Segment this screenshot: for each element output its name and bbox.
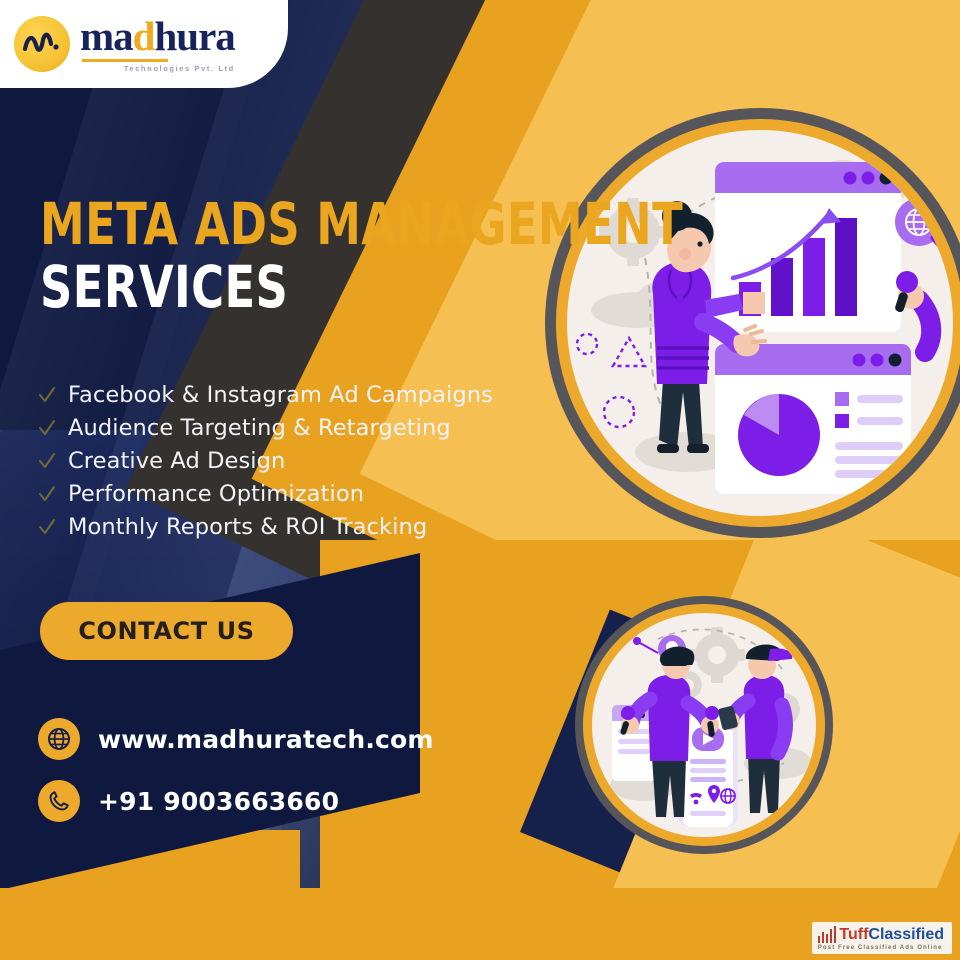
list-item-label: Facebook & Instagram Ad Campaigns (68, 382, 493, 408)
brand-logo-text: madhura Technologies Pvt. Ltd (80, 16, 235, 73)
page-title-line2: SERVICES (40, 259, 683, 316)
poster-canvas: madhura Technologies Pvt. Ltd META ADS M… (0, 0, 960, 960)
contact-phone-label: +91 9003663660 (98, 787, 339, 816)
brand-logo-tagline: Technologies Pvt. Ltd (80, 65, 235, 73)
waveform-logo-icon (14, 16, 70, 72)
check-icon (38, 452, 56, 470)
microphone-arm (894, 271, 931, 352)
page-title-line1: META ADS MANAGEMENT (40, 196, 683, 253)
brand-logo-wordmark: madhura (80, 16, 235, 57)
list-item: Facebook & Instagram Ad Campaigns (38, 378, 493, 411)
watermark-name: TuffClassified (839, 927, 944, 943)
check-icon (38, 419, 56, 437)
tuffclassified-watermark: TuffClassified Post Free Classified Ads … (812, 922, 952, 954)
list-item-label: Creative Ad Design (68, 448, 285, 474)
check-icon (38, 518, 56, 536)
microphone-head (896, 271, 918, 293)
contact-info: www.madhuratech.com +91 9003663660 (38, 708, 434, 832)
watermark-name-a: Tuff (839, 926, 868, 943)
pie-chart-window (715, 344, 911, 494)
watermark-name-b: Classified (868, 926, 944, 943)
list-item: Audience Targeting & Retargeting (38, 411, 493, 444)
globe-icon (38, 718, 80, 760)
brand-logo-underline (82, 59, 168, 62)
contact-us-button[interactable]: CONTACT US (40, 602, 293, 660)
watermark-title-row: TuffClassified (818, 926, 944, 943)
list-item-label: Audience Targeting & Retargeting (68, 415, 451, 441)
contact-us-button-label: CONTACT US (78, 617, 254, 645)
brand-logo-word-b: hura (154, 13, 234, 59)
check-icon (38, 386, 56, 404)
circle-interior (567, 130, 953, 516)
contact-website[interactable]: www.madhuratech.com (38, 708, 434, 770)
analytics-scene-svg (567, 130, 953, 516)
microphone-head (621, 706, 635, 720)
microphone-head (705, 706, 719, 720)
page-title: META ADS MANAGEMENT SERVICES (40, 196, 788, 316)
brand-logo[interactable]: madhura Technologies Pvt. Ltd (0, 0, 288, 88)
contact-phone[interactable]: +91 9003663660 (38, 770, 434, 832)
illustration-analytics-circle (545, 108, 960, 538)
brand-logo-word-hook: d (133, 13, 155, 59)
small-circle-interior (592, 613, 816, 837)
illustration-media-circle (575, 596, 833, 854)
list-item: Creative Ad Design (38, 444, 493, 477)
phone-icon (38, 780, 80, 822)
media-scene-svg (592, 613, 816, 837)
contact-website-label: www.madhuratech.com (98, 725, 434, 754)
brand-logo-word-a: ma (80, 13, 133, 59)
check-icon (38, 485, 56, 503)
list-item: Performance Optimization (38, 477, 493, 510)
watermark-tagline: Post Free Classified Ads Online (818, 945, 943, 951)
list-item: Monthly Reports & ROI Tracking (38, 510, 493, 543)
list-item-label: Monthly Reports & ROI Tracking (68, 514, 427, 540)
list-item-label: Performance Optimization (68, 481, 364, 507)
bar-chart-icon (818, 926, 837, 943)
service-list: Facebook & Instagram Ad Campaigns Audien… (38, 378, 493, 543)
